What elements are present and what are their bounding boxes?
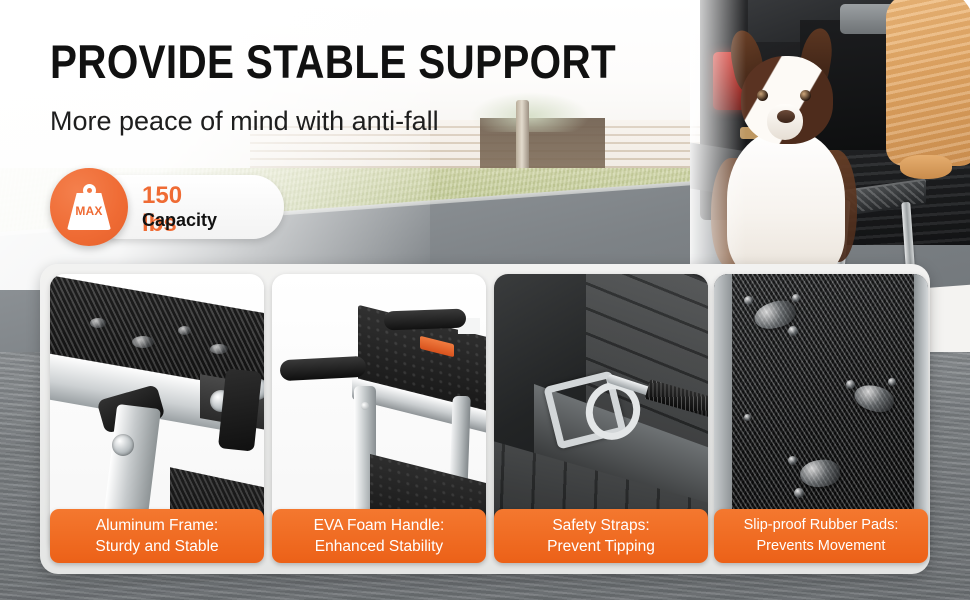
max-icon-text: MAX: [67, 204, 111, 218]
feature-caption-4: Slip-proof Rubber Pads: Prevents Movemen…: [714, 509, 928, 563]
water-bead: [788, 456, 797, 465]
post-screw: [361, 402, 369, 410]
caption-3-line-1: Safety Straps:: [552, 515, 649, 536]
water-drop: [178, 326, 191, 335]
max-weight-icon: MAX: [50, 168, 128, 246]
water-drop: [210, 344, 228, 354]
retriever-fur: [886, 0, 970, 166]
weight-icon: MAX: [67, 184, 111, 230]
caption-1-line-1: Aluminum Frame:: [96, 515, 218, 536]
water-bead: [888, 378, 896, 386]
leg-bolt: [112, 434, 134, 456]
caption-1-line-2: Sturdy and Stable: [95, 536, 218, 557]
capacity-label: Capacity: [142, 210, 217, 231]
caption-2-line-1: EVA Foam Handle:: [314, 515, 445, 536]
water-drop: [90, 318, 106, 328]
water-bead: [744, 296, 753, 305]
water-drop: [132, 336, 154, 348]
page-title: PROVIDE STABLE SUPPORT: [50, 36, 616, 88]
eva-foam-handle-upper: [384, 309, 467, 331]
water-bead: [794, 488, 804, 498]
caption-4-line-2: Prevents Movement: [757, 536, 886, 557]
page-subtitle: More peace of mind with anti-fall: [50, 104, 439, 138]
retriever-paw: [900, 155, 952, 179]
water-bead: [744, 414, 751, 421]
feature-caption-2: EVA Foam Handle: Enhanced Stability: [272, 509, 486, 563]
product-feature-banner: PROVIDE STABLE SUPPORT More peace of min…: [0, 0, 970, 600]
hero-left-fade: [690, 0, 746, 285]
caption-4-line-1: Slip-proof Rubber Pads:: [744, 515, 899, 536]
hero-photo: [690, 0, 970, 285]
caption-3-line-2: Prevent Tipping: [547, 536, 655, 557]
water-bead: [788, 326, 798, 336]
collie-eye-left: [757, 90, 768, 101]
water-bead: [792, 294, 800, 302]
caption-2-line-2: Enhanced Stability: [315, 536, 443, 557]
feature-caption-1: Aluminum Frame: Sturdy and Stable: [50, 509, 264, 563]
feature-caption-3: Safety Straps: Prevent Tipping: [494, 509, 708, 563]
collie-eye-right: [800, 90, 811, 101]
foliage: [470, 92, 590, 132]
eva-foam-handle-lower: [280, 356, 367, 381]
golden-retriever: [886, 0, 970, 200]
collie-nose: [777, 110, 795, 123]
water-bead: [846, 380, 855, 389]
retriever-body: [886, 0, 970, 166]
